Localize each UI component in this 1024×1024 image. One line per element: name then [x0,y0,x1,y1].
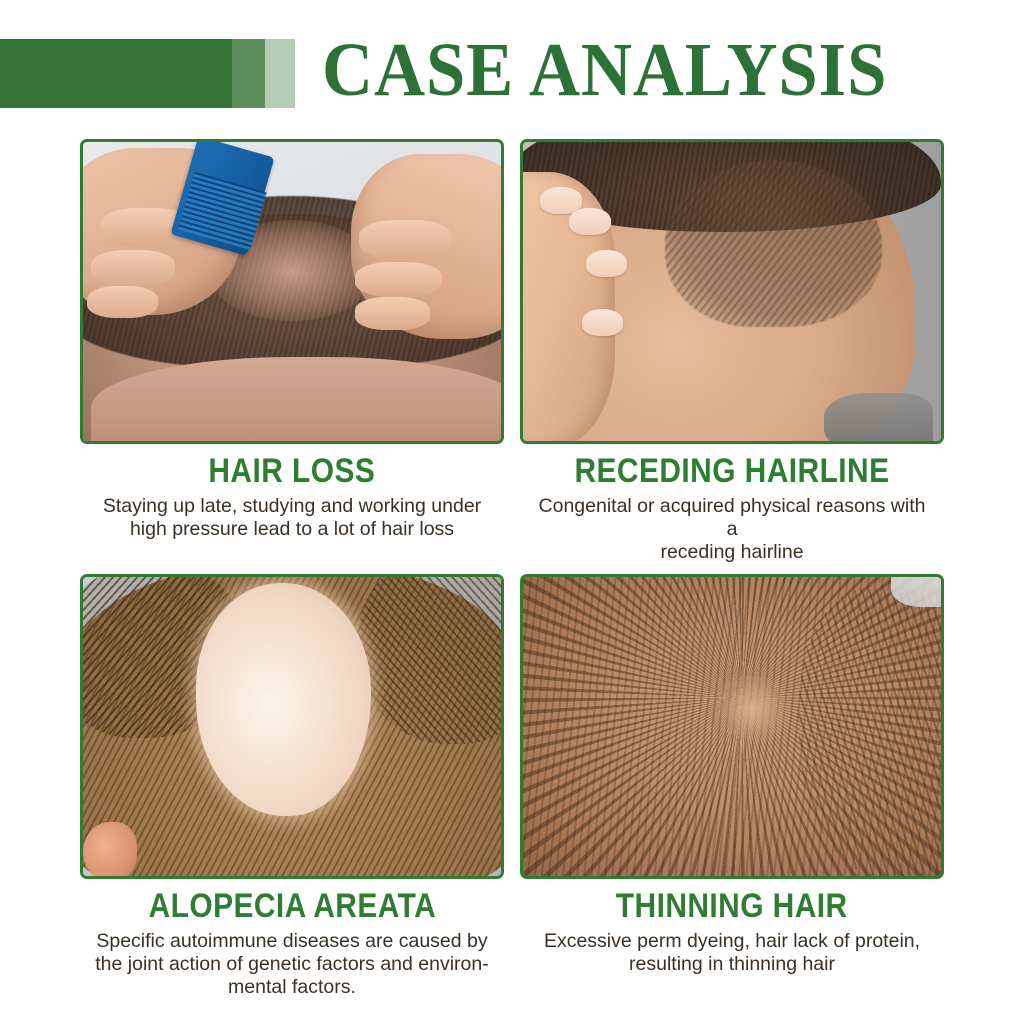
case-photo-receding-hairline [520,139,944,444]
accent-bar-segment-light [265,39,295,108]
case-photo-hair-loss [80,139,504,444]
case-card-description: Congenital or acquired physical reasons … [532,495,932,564]
case-card-title: ALOPECIA AREATA [148,888,436,924]
header: CASE ANALYSIS [0,0,1024,120]
case-card-title: RECEDING HAIRLINE [574,453,889,489]
case-card-description: Excessive perm dyeing, hair lack of prot… [532,930,932,976]
case-card-hair-loss: HAIR LOSS Staying up late, studying and … [80,139,504,564]
case-photo-thinning-hair [520,574,944,879]
case-card-title: HAIR LOSS [209,453,376,489]
case-card-thinning-hair: THINNING HAIR Excessive perm dyeing, hai… [520,574,944,999]
case-card-alopecia-areata: ALOPECIA AREATA Specific autoimmune dise… [80,574,504,999]
case-card-description: Staying up late, studying and working un… [92,495,492,541]
accent-bar-segment-dark [0,39,232,108]
case-photo-alopecia-areata [80,574,504,879]
case-card-title: THINNING HAIR [616,888,848,924]
accent-bar [0,39,295,108]
case-card-description: Specific autoimmune diseases are caused … [92,930,492,999]
case-card-grid: HAIR LOSS Staying up late, studying and … [80,139,944,999]
case-card-receding-hairline: RECEDING HAIRLINE Congenital or acquired… [520,139,944,564]
case-analysis-poster: CASE ANALYSIS [0,0,1024,1024]
page-title: CASE ANALYSIS [322,30,917,110]
accent-bar-segment-medium [232,39,265,108]
